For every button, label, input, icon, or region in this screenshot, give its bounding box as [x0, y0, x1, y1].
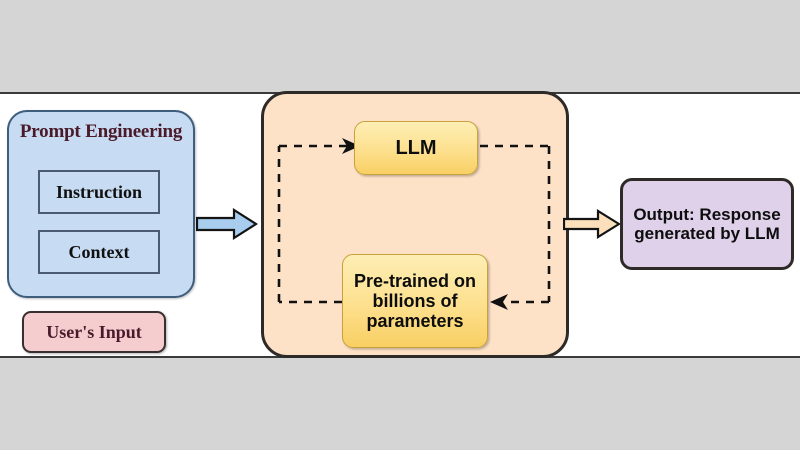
llm-label: LLM — [395, 137, 436, 159]
pretrained-label: Pre-trained on billions of parameters — [354, 271, 476, 331]
input-block-arrow-right-icon — [196, 208, 258, 240]
instruction-box: Instruction — [38, 170, 160, 214]
pretrained-box: Pre-trained on billions of parameters — [342, 254, 488, 348]
prompt-engineering-title: Prompt Engineering — [9, 121, 193, 143]
diagram-canvas: Prompt Engineering Instruction Context U… — [0, 0, 800, 450]
output-label: Output: Response generated by LLM — [633, 205, 780, 243]
prompt-engineering-box: Prompt Engineering Instruction Context — [7, 110, 195, 298]
users-input-label: User's Input — [46, 322, 142, 343]
llm-container: LLM Pre-trained on billions of parameter… — [261, 91, 569, 358]
instruction-label: Instruction — [56, 182, 142, 203]
users-input-box: User's Input — [22, 311, 166, 353]
context-box: Context — [38, 230, 160, 274]
context-label: Context — [69, 242, 130, 263]
llm-box: LLM — [354, 121, 478, 175]
output-box: Output: Response generated by LLM — [620, 178, 794, 270]
